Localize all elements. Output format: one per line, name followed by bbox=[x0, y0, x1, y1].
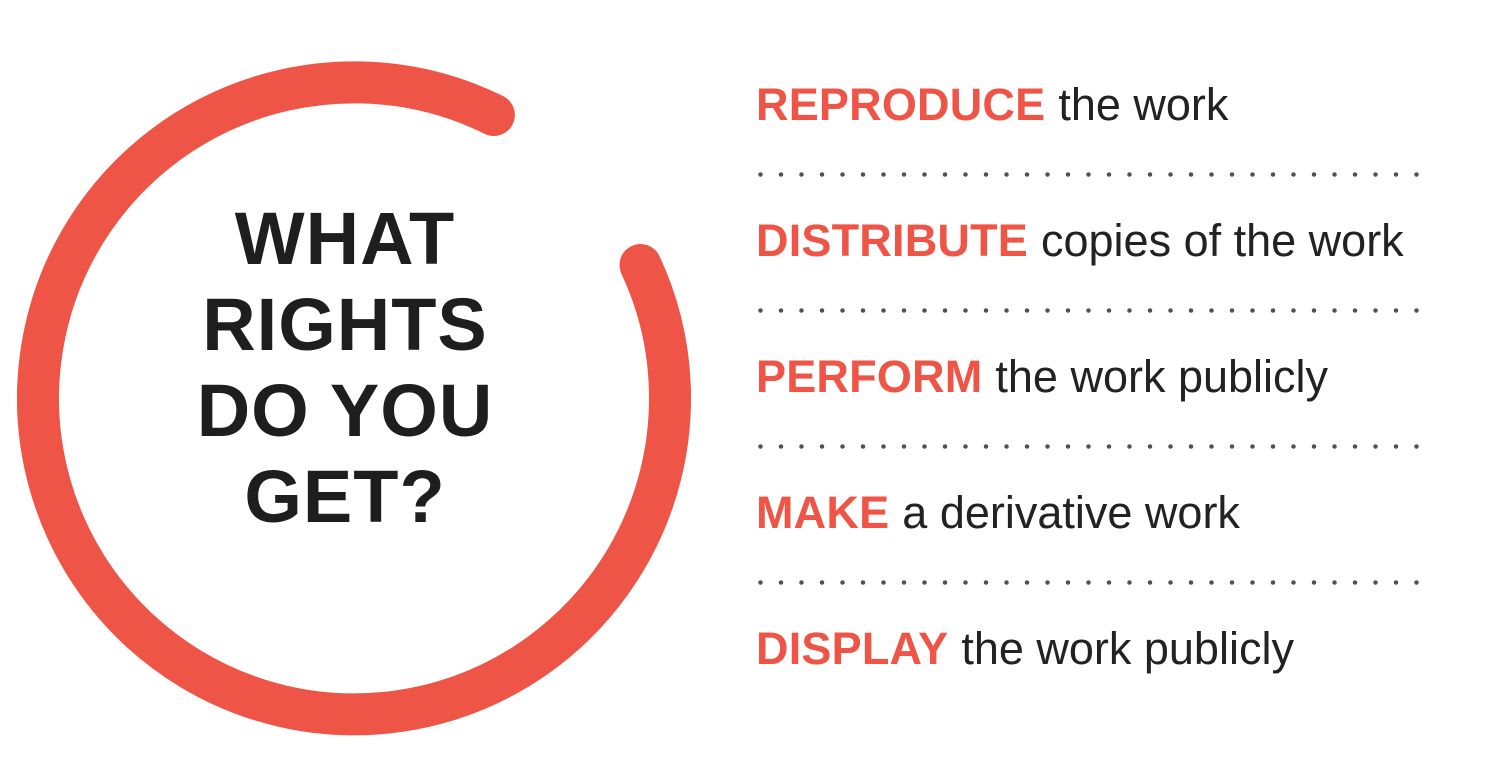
list-item: DISPLAY the work publicly bbox=[756, 619, 1500, 679]
page-title: WHAT RIGHTS DO YOU GET? bbox=[95, 196, 595, 540]
headline-line-2: RIGHTS bbox=[95, 282, 595, 368]
rights-list: REPRODUCE the work DISTRIBUTE copies of … bbox=[756, 0, 1500, 760]
list-item-keyword: PERFORM bbox=[756, 351, 982, 403]
rights-badge: WHAT RIGHTS DO YOU GET? bbox=[0, 0, 720, 760]
headline-line-4: GET? bbox=[95, 454, 595, 540]
list-item-keyword: MAKE bbox=[756, 487, 889, 539]
list-divider bbox=[758, 172, 1430, 177]
list-item-keyword: DISPLAY bbox=[756, 623, 948, 675]
infographic-canvas: WHAT RIGHTS DO YOU GET? REPRODUCE the wo… bbox=[0, 0, 1500, 760]
list-item-text: the work publicly bbox=[961, 623, 1294, 675]
list-divider bbox=[758, 444, 1430, 449]
list-item-text: the work publicly bbox=[995, 351, 1328, 403]
list-item-text: the work bbox=[1058, 79, 1228, 131]
list-item: MAKE a derivative work bbox=[756, 483, 1500, 543]
list-item: REPRODUCE the work bbox=[756, 75, 1500, 135]
list-item-keyword: REPRODUCE bbox=[756, 79, 1045, 131]
headline-line-1: WHAT bbox=[95, 196, 595, 282]
list-item-keyword: DISTRIBUTE bbox=[756, 215, 1028, 267]
list-item: DISTRIBUTE copies of the work bbox=[756, 211, 1500, 271]
list-divider bbox=[758, 308, 1430, 313]
list-item: PERFORM the work publicly bbox=[756, 347, 1500, 407]
headline-line-3: DO YOU bbox=[95, 368, 595, 454]
list-divider bbox=[758, 580, 1430, 585]
list-item-text: a derivative work bbox=[902, 487, 1240, 539]
list-item-text: copies of the work bbox=[1041, 215, 1404, 267]
